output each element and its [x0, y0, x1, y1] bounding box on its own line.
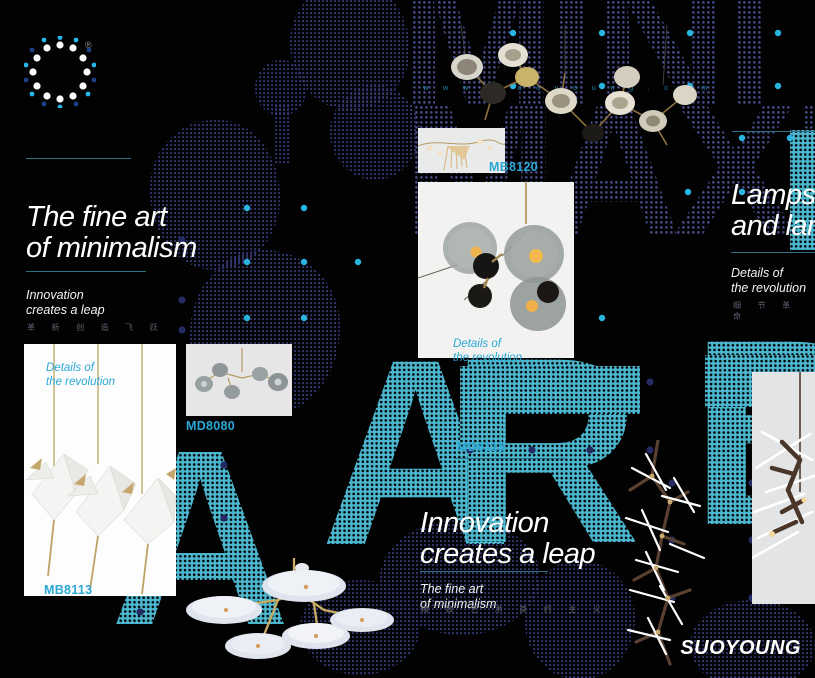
registered-trademark-icon: ®: [85, 40, 92, 50]
rule-right-top: [732, 131, 815, 132]
caption-md8115-line2: the revolution: [453, 352, 522, 366]
product-code-md8080: MD8080: [186, 419, 235, 433]
product-code-mb8120: MB8120: [489, 160, 538, 174]
rule-left-mid: [26, 271, 146, 272]
caption-mb8113-line2: the revolution: [46, 376, 115, 390]
headline-left-line1: The fine art: [26, 202, 197, 233]
caption-mb8113-line1: Details of: [46, 362, 115, 376]
headline-left-line2: of minimalism: [26, 233, 197, 264]
chinese-right: 细 节 革 命: [733, 300, 815, 322]
subhead-left-line2: creates a leap: [26, 303, 105, 318]
product-panel-starburst-right[interactable]: [752, 372, 815, 604]
subhead-left: Innovation creates a leap: [26, 288, 105, 319]
caption-details-md8115: Details of the revolution: [453, 338, 522, 365]
headline-bottom-line2: creates a leap: [420, 539, 595, 570]
caption-md8115-line1: Details of: [453, 338, 522, 352]
subhead-bottom-line1: The fine art: [420, 582, 496, 597]
rule-right-mid: [731, 252, 815, 253]
rule-bottom: [420, 571, 548, 572]
headline-right: Lamps and lan: [731, 180, 815, 241]
headline-bottom-line1: Innovation: [420, 508, 595, 539]
product-panel-md8080[interactable]: [186, 344, 292, 416]
brand-wordmark: SUOYOUNG: [680, 637, 801, 660]
product-code-mb8113: MB8113: [44, 583, 92, 597]
subhead-left-line1: Innovation: [26, 288, 105, 303]
caption-details-mb8113: Details of the revolution: [46, 362, 115, 389]
subhead-right-line1: Details of: [731, 266, 806, 281]
cyan-overlay-md8115-leg: [460, 366, 503, 449]
subhead-right-line2: the revolution: [731, 281, 806, 296]
website-url[interactable]: w w w . s u o y o u n g . c o m: [423, 83, 714, 92]
poster-canvas: M I N I M A X I A R A B: [0, 0, 815, 678]
headline-right-line1: Lamps: [731, 180, 815, 211]
rule-left-top: [26, 158, 131, 159]
chinese-bottom: 精 致 艺 术 简 约 主 义: [421, 604, 608, 615]
product-panel-md8115[interactable]: [418, 182, 574, 358]
headline-bottom: Innovation creates a leap: [420, 508, 595, 569]
headline-left: The fine art of minimalism: [26, 202, 197, 263]
rule-md8115: [455, 458, 565, 459]
product-code-md8115: MD8115: [457, 440, 505, 454]
chinese-left: 革 新 创 造 飞 跃: [27, 322, 165, 333]
subhead-right: Details of the revolution: [731, 266, 806, 297]
headline-right-line2: and lan: [731, 211, 815, 242]
halftone-blob-stem: [275, 105, 291, 165]
halftone-blob-d: [330, 85, 420, 180]
